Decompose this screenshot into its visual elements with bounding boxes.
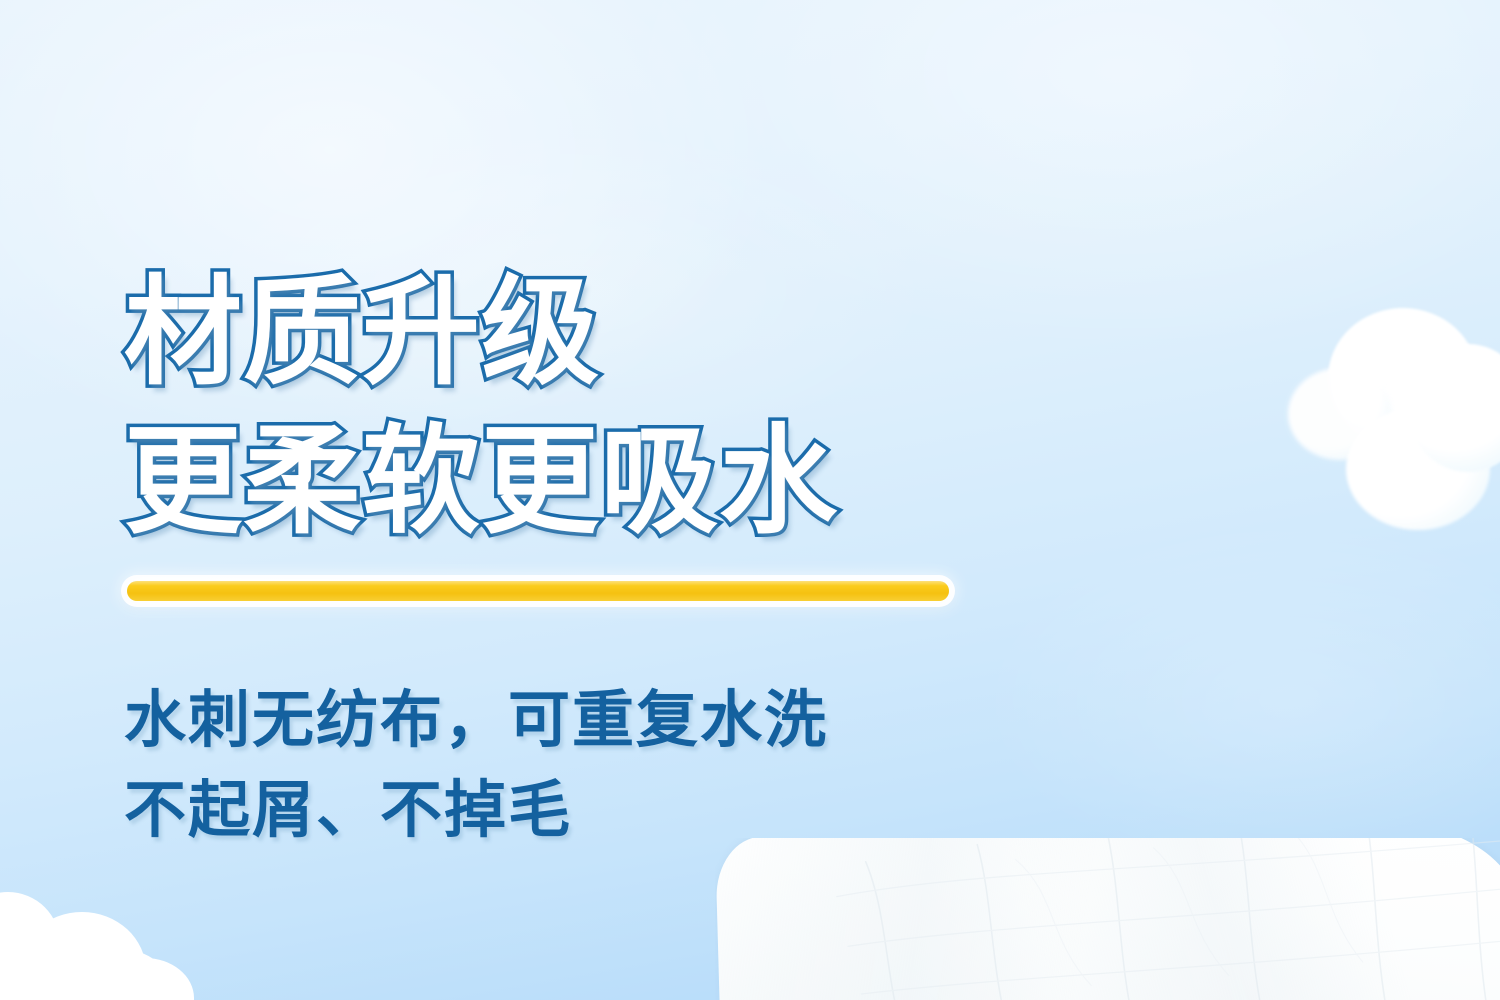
cloud-puff (0, 950, 174, 1000)
cloud-puff (1328, 308, 1478, 448)
promo-banner: 材质升级 更柔软更吸水 水刺无纺布，可重复水洗 不起屑、不掉毛 (0, 0, 1500, 1000)
cloud-puff (96, 958, 194, 1000)
subtitle-line-2: 不起屑、不掉毛 (124, 765, 1124, 855)
cloud-puff (18, 912, 146, 1000)
headline-line-2: 更柔软更吸水 (124, 407, 1124, 556)
subtitle: 水刺无纺布，可重复水洗 不起屑、不掉毛 (124, 675, 1124, 855)
divider-bar (127, 581, 949, 601)
towel-body (715, 838, 1500, 1000)
headline-line-1: 材质升级 (124, 258, 1124, 407)
page-title: 材质升级 更柔软更吸水 (124, 258, 1124, 555)
product-image-towel (715, 838, 1500, 1000)
cloud-puff (1408, 344, 1500, 472)
subtitle-line-1: 水刺无纺布，可重复水洗 (124, 675, 1124, 765)
cloud-puff (1346, 408, 1490, 530)
cloud-icon (0, 884, 196, 1000)
divider (127, 575, 949, 609)
copy-block: 材质升级 更柔软更吸水 水刺无纺布，可重复水洗 不起屑、不掉毛 (124, 258, 1124, 855)
towel-crease-lines (715, 838, 1500, 1000)
cloud-puff (0, 892, 60, 996)
cloud-puff (1288, 368, 1392, 460)
cloud-icon (1280, 300, 1500, 530)
